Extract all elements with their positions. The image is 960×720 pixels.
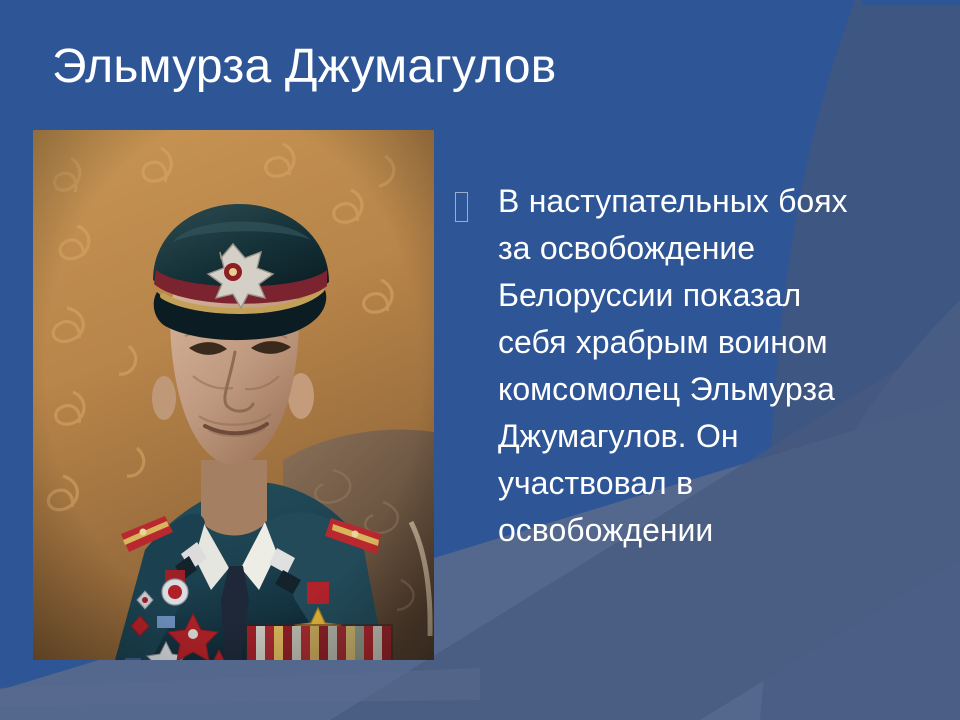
- page-title: Эльмурза Джумагулов: [52, 38, 912, 96]
- bullet-list-item: В наступательных боях за освобождение Бе…: [455, 178, 855, 554]
- top-right-strip: [861, 0, 960, 6]
- content-body: В наступательных боях за освобождение Бе…: [455, 178, 855, 554]
- presentation-slide: Эльмурза Джумагулов Эльмурза Джумагулов …: [0, 0, 960, 720]
- bullet-missing-glyph-icon: [455, 192, 468, 222]
- photo-vignette: [33, 130, 434, 660]
- portrait-photo: Эльмурза Джумагулов в парадной военной ф…: [33, 130, 434, 660]
- body-paragraph: В наступательных боях за освобождение Бе…: [498, 178, 855, 554]
- bottom-left-sliver: [0, 668, 480, 706]
